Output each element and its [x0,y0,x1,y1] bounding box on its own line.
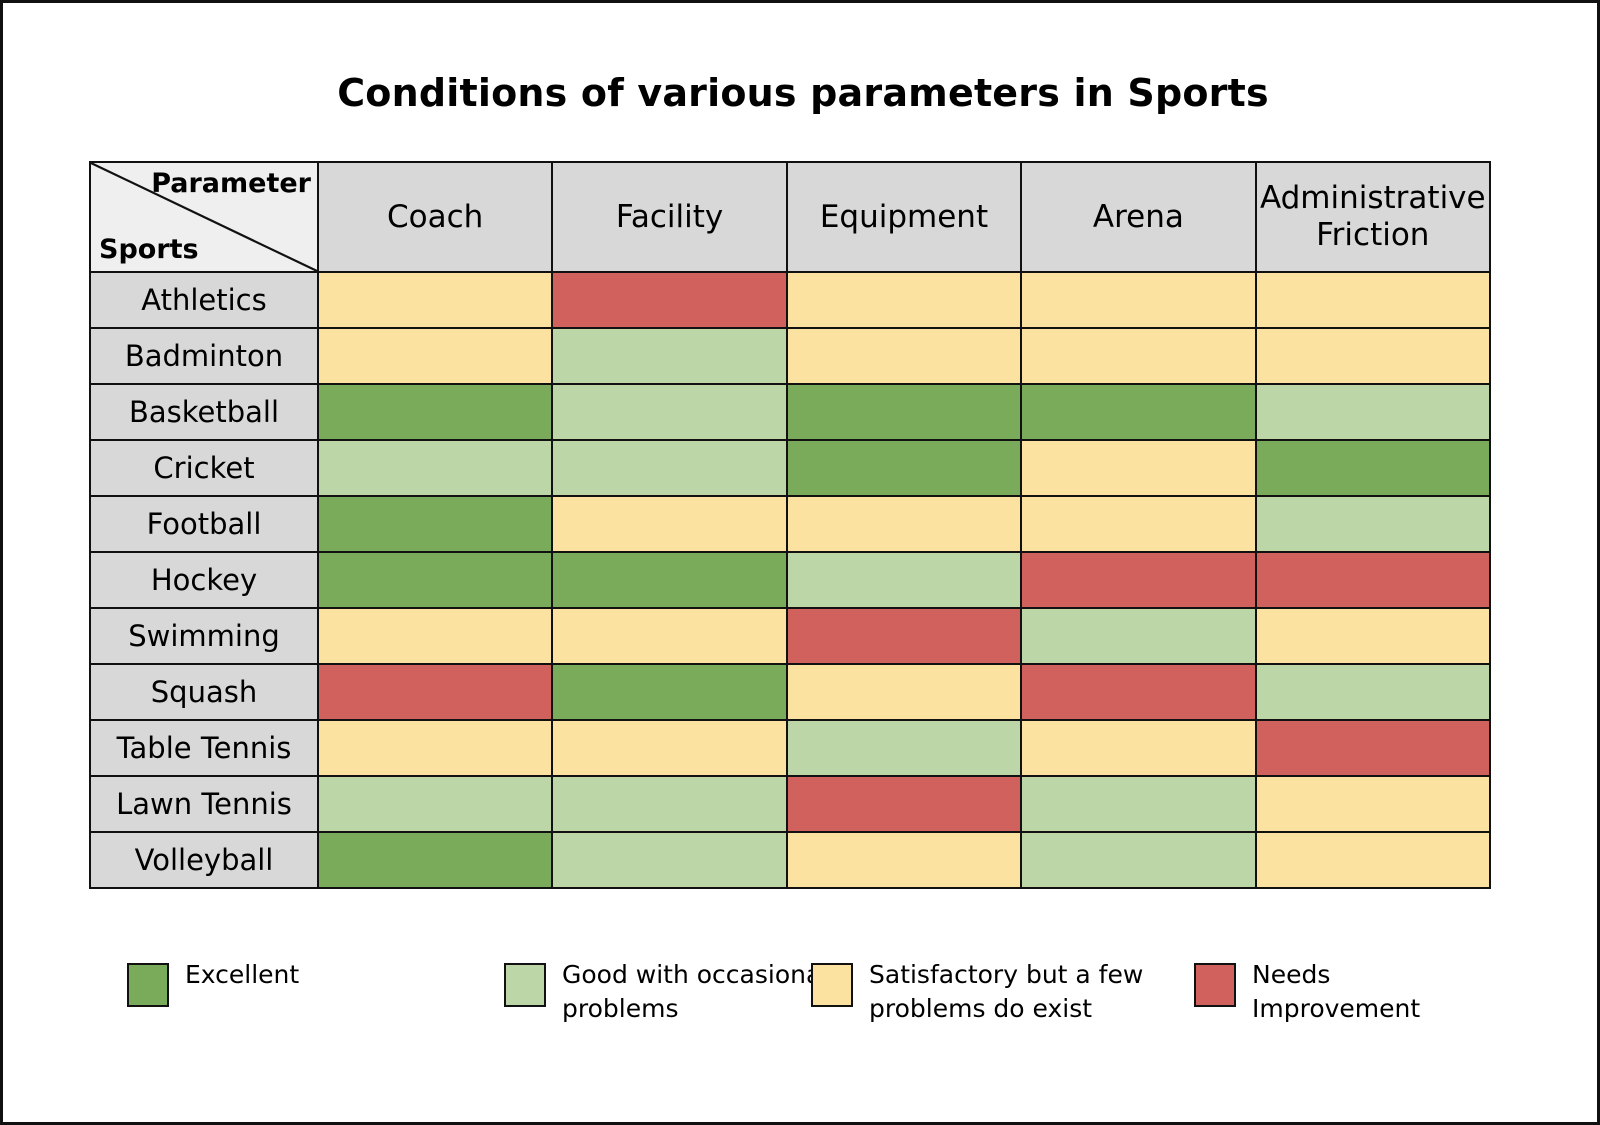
row-header-football: Football [90,496,318,552]
column-header-facility: Facility [552,162,786,272]
cell-squash-equipment [787,664,1021,720]
legend-label-satisfactory: Satisfactory but a few problems do exist [869,958,1151,1026]
legend-swatch-excellent [127,963,169,1007]
column-header-arena: Arena [1021,162,1255,272]
legend-item-excellent: Excellent [127,958,387,1007]
cell-badminton-arena [1021,328,1255,384]
cell-cricket-equipment [787,440,1021,496]
row-header-swimming: Swimming [90,608,318,664]
column-header-administrative-friction: Administrative Friction [1256,162,1490,272]
cell-lawn-tennis-arena [1021,776,1255,832]
cell-hockey-facility [552,552,786,608]
cell-basketball-arena [1021,384,1255,440]
cell-athletics-administrative-friction [1256,272,1490,328]
row-header-hockey: Hockey [90,552,318,608]
row-header-badminton: Badminton [90,328,318,384]
cell-swimming-administrative-friction [1256,608,1490,664]
legend-swatch-good [504,963,546,1007]
cell-lawn-tennis-facility [552,776,786,832]
table-row: Football [90,496,1490,552]
column-header-equipment: Equipment [787,162,1021,272]
cell-squash-administrative-friction [1256,664,1490,720]
cell-athletics-equipment [787,272,1021,328]
cell-volleyball-coach [318,832,552,888]
row-header-squash: Squash [90,664,318,720]
cell-badminton-administrative-friction [1256,328,1490,384]
row-header-volleyball: Volleyball [90,832,318,888]
cell-lawn-tennis-equipment [787,776,1021,832]
table-row: Basketball [90,384,1490,440]
table-row: Swimming [90,608,1490,664]
cell-lawn-tennis-administrative-friction [1256,776,1490,832]
cell-volleyball-facility [552,832,786,888]
cell-basketball-coach [318,384,552,440]
cell-hockey-administrative-friction [1256,552,1490,608]
legend-label-excellent: Excellent [185,958,299,992]
table-row: Squash [90,664,1490,720]
cell-swimming-facility [552,608,786,664]
cell-basketball-facility [552,384,786,440]
row-header-athletics: Athletics [90,272,318,328]
cell-swimming-arena [1021,608,1255,664]
table-row: Badminton [90,328,1490,384]
legend-swatch-needs_improvement [1194,963,1236,1007]
cell-basketball-equipment [787,384,1021,440]
cell-football-equipment [787,496,1021,552]
legend-swatch-satisfactory [811,963,853,1007]
table-row: Athletics [90,272,1490,328]
cell-basketball-administrative-friction [1256,384,1490,440]
column-header-coach: Coach [318,162,552,272]
cell-squash-coach [318,664,552,720]
row-header-basketball: Basketball [90,384,318,440]
corner-axis-cell: Parameter Sports [90,162,318,272]
cell-athletics-facility [552,272,786,328]
row-header-lawn-tennis: Lawn Tennis [90,776,318,832]
cell-table-tennis-administrative-friction [1256,720,1490,776]
legend: ExcellentGood with occasional problemsSa… [89,958,1509,1048]
cell-badminton-equipment [787,328,1021,384]
cell-cricket-facility [552,440,786,496]
page-title: Conditions of various parameters in Spor… [3,71,1600,115]
table-row: Cricket [90,440,1490,496]
cell-table-tennis-arena [1021,720,1255,776]
cell-swimming-equipment [787,608,1021,664]
cell-badminton-facility [552,328,786,384]
cell-football-administrative-friction [1256,496,1490,552]
cell-athletics-arena [1021,272,1255,328]
cell-table-tennis-facility [552,720,786,776]
cell-football-coach [318,496,552,552]
cell-football-facility [552,496,786,552]
cell-football-arena [1021,496,1255,552]
conditions-matrix-table: Parameter Sports Coach Facility Equipmen… [89,161,1491,889]
legend-label-needs_improvement: Needs Improvement [1252,958,1494,1026]
column-axis-label: Parameter [151,169,311,199]
cell-cricket-arena [1021,440,1255,496]
cell-squash-facility [552,664,786,720]
table-body: AthleticsBadmintonBasketballCricketFootb… [90,272,1490,888]
table-header: Parameter Sports Coach Facility Equipmen… [90,162,1490,272]
row-header-cricket: Cricket [90,440,318,496]
table-row: Table Tennis [90,720,1490,776]
table-row: Volleyball [90,832,1490,888]
cell-volleyball-equipment [787,832,1021,888]
row-axis-label: Sports [99,235,199,265]
row-header-table-tennis: Table Tennis [90,720,318,776]
legend-item-needs_improvement: Needs Improvement [1194,958,1494,1026]
cell-volleyball-arena [1021,832,1255,888]
cell-table-tennis-coach [318,720,552,776]
table-row: Lawn Tennis [90,776,1490,832]
cell-table-tennis-equipment [787,720,1021,776]
cell-hockey-equipment [787,552,1021,608]
legend-item-satisfactory: Satisfactory but a few problems do exist [811,958,1151,1026]
table-row: Hockey [90,552,1490,608]
cell-volleyball-administrative-friction [1256,832,1490,888]
header-row: Parameter Sports Coach Facility Equipmen… [90,162,1490,272]
cell-hockey-coach [318,552,552,608]
cell-athletics-coach [318,272,552,328]
cell-cricket-coach [318,440,552,496]
cell-swimming-coach [318,608,552,664]
legend-label-good: Good with occasional problems [562,958,834,1026]
cell-squash-arena [1021,664,1255,720]
legend-item-good: Good with occasional problems [504,958,834,1026]
chart-page: Conditions of various parameters in Spor… [0,0,1600,1125]
cell-lawn-tennis-coach [318,776,552,832]
cell-badminton-coach [318,328,552,384]
cell-cricket-administrative-friction [1256,440,1490,496]
cell-hockey-arena [1021,552,1255,608]
